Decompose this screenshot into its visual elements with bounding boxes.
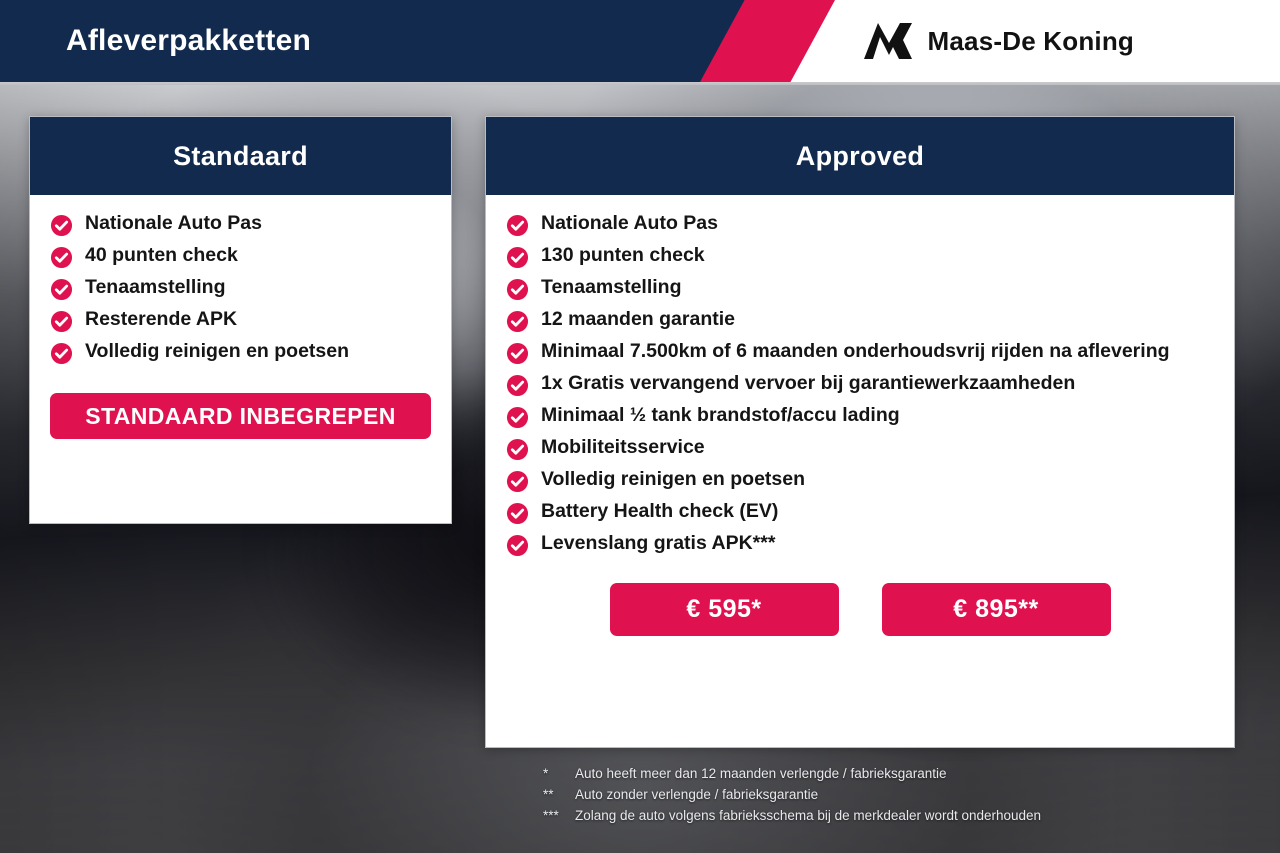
check-circle-icon: [506, 374, 529, 397]
footnote-marker: ***: [543, 806, 575, 827]
feature-label: Resterende APK: [85, 307, 237, 332]
check-circle-icon: [506, 214, 529, 237]
card-title-approved: Approved: [796, 141, 924, 172]
check-circle-icon: [506, 246, 529, 269]
brand-logo: Maas-De Koning: [862, 0, 1134, 82]
feature-label: Nationale Auto Pas: [85, 211, 262, 236]
feature-label: 12 maanden garantie: [541, 307, 735, 332]
feature-label: Minimaal ½ tank brandstof/accu lading: [541, 403, 900, 428]
feature-item: 12 maanden garantie: [506, 307, 1214, 333]
maas-de-koning-logo-icon: [862, 22, 914, 60]
footnote-row: **Auto zonder verlengde / fabrieksgarant…: [543, 785, 1243, 806]
footnote-row: ***Zolang de auto volgens fabrieksschema…: [543, 806, 1243, 827]
footnote-marker: **: [543, 785, 575, 806]
feature-label: Tenaamstelling: [85, 275, 226, 300]
check-circle-icon: [50, 278, 73, 301]
feature-item: 130 punten check: [506, 243, 1214, 269]
feature-item: Volledig reinigen en poetsen: [50, 339, 431, 365]
check-circle-icon: [50, 214, 73, 237]
feature-item: Resterende APK: [50, 307, 431, 333]
price-button-1[interactable]: € 595*: [610, 583, 839, 636]
page-root: Afleverpakketten Maas-De Koning Standaar…: [0, 0, 1280, 853]
footnote-text: Zolang de auto volgens fabrieksschema bi…: [575, 806, 1243, 827]
feature-label: 130 punten check: [541, 243, 705, 268]
feature-label: Volledig reinigen en poetsen: [85, 339, 349, 364]
brand-name: Maas-De Koning: [928, 26, 1134, 57]
check-circle-icon: [506, 406, 529, 429]
page-header: Afleverpakketten Maas-De Koning: [0, 0, 1280, 82]
feature-item: Tenaamstelling: [50, 275, 431, 301]
check-circle-icon: [506, 310, 529, 333]
feature-item: Mobiliteitsservice: [506, 435, 1214, 461]
card-body-approved: Nationale Auto Pas130 punten checkTenaam…: [486, 195, 1234, 636]
feature-label: 40 punten check: [85, 243, 238, 268]
page-title: Afleverpakketten: [66, 0, 311, 82]
card-header-approved: Approved: [486, 117, 1234, 195]
feature-item: Volledig reinigen en poetsen: [506, 467, 1214, 493]
check-circle-icon: [50, 342, 73, 365]
feature-label: Levenslang gratis APK***: [541, 531, 775, 556]
check-circle-icon: [506, 470, 529, 493]
footnote-row: *Auto heeft meer dan 12 maanden verlengd…: [543, 764, 1243, 785]
feature-label: Volledig reinigen en poetsen: [541, 467, 805, 492]
card-title-standaard: Standaard: [173, 141, 308, 172]
feature-item: Nationale Auto Pas: [506, 211, 1214, 237]
feature-label: Nationale Auto Pas: [541, 211, 718, 236]
check-circle-icon: [506, 534, 529, 557]
card-body-standaard: Nationale Auto Pas40 punten checkTenaams…: [30, 195, 451, 439]
check-circle-icon: [50, 246, 73, 269]
feature-item: Levenslang gratis APK***: [506, 531, 1214, 557]
footnotes: *Auto heeft meer dan 12 maanden verlengd…: [543, 764, 1243, 827]
feature-item: Nationale Auto Pas: [50, 211, 431, 237]
feature-list-approved: Nationale Auto Pas130 punten checkTenaam…: [506, 211, 1214, 557]
feature-label: Mobiliteitsservice: [541, 435, 705, 460]
standaard-included-button[interactable]: STANDAARD INBEGREPEN: [50, 393, 431, 439]
feature-list-standaard: Nationale Auto Pas40 punten checkTenaams…: [50, 211, 431, 365]
feature-item: Minimaal ½ tank brandstof/accu lading: [506, 403, 1214, 429]
price-button-2[interactable]: € 895**: [882, 583, 1111, 636]
package-card-approved: Approved Nationale Auto Pas130 punten ch…: [485, 116, 1235, 748]
footnote-marker: *: [543, 764, 575, 785]
footnote-text: Auto heeft meer dan 12 maanden verlengde…: [575, 764, 1243, 785]
feature-item: Battery Health check (EV): [506, 499, 1214, 525]
check-circle-icon: [50, 310, 73, 333]
card-header-standaard: Standaard: [30, 117, 451, 195]
feature-label: Tenaamstelling: [541, 275, 682, 300]
feature-label: Minimaal 7.500km of 6 maanden onderhouds…: [541, 339, 1170, 364]
feature-item: Tenaamstelling: [506, 275, 1214, 301]
check-circle-icon: [506, 438, 529, 461]
footnote-text: Auto zonder verlengde / fabrieksgarantie: [575, 785, 1243, 806]
package-card-standaard: Standaard Nationale Auto Pas40 punten ch…: [29, 116, 452, 524]
feature-item: Minimaal 7.500km of 6 maanden onderhouds…: [506, 339, 1214, 365]
check-circle-icon: [506, 278, 529, 301]
check-circle-icon: [506, 342, 529, 365]
feature-label: Battery Health check (EV): [541, 499, 778, 524]
header-underline: [0, 82, 1280, 85]
feature-label: 1x Gratis vervangend vervoer bij garanti…: [541, 371, 1075, 396]
check-circle-icon: [506, 502, 529, 525]
feature-item: 40 punten check: [50, 243, 431, 269]
feature-item: 1x Gratis vervangend vervoer bij garanti…: [506, 371, 1214, 397]
price-button-row: € 595*€ 895**: [506, 583, 1214, 636]
